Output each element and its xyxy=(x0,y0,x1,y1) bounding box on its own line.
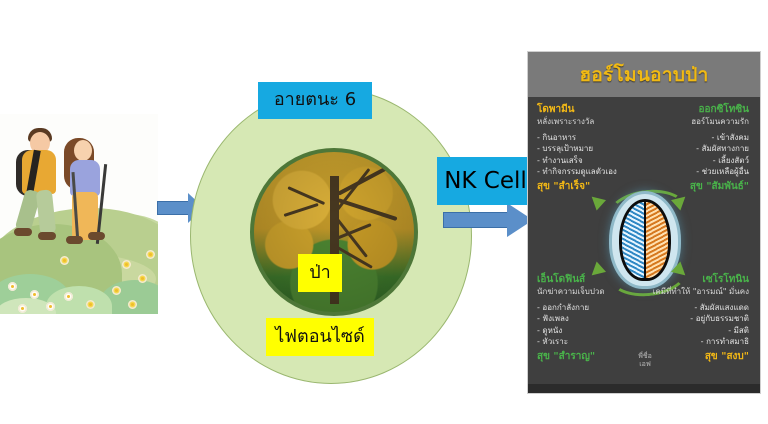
flower-icon xyxy=(122,260,131,269)
flower-icon xyxy=(112,286,121,295)
hormone-poster: ฮอร์โมนอาบป่า โดพามีน หลั่งเพราะรางวัล -… xyxy=(528,52,760,393)
flower-icon xyxy=(30,290,39,299)
label-phytoncide: ไฟตอนไซด์ xyxy=(266,318,374,356)
list-item: - การทำสมาธิ xyxy=(649,336,749,347)
quadrant-endorphin: เอ็นโดฟินส์ นักฆ่าความเจ็บปวด - ออกกำลัง… xyxy=(537,274,637,362)
slide-canvas: อายตนะ 6 ป่า ไฟตอนไซด์ NK Cell ฮอร์โมนอา… xyxy=(0,0,768,424)
list-item: - ช่วยเหลือผู้อื่น xyxy=(649,166,749,177)
flower-icon xyxy=(64,292,73,301)
list-item: - ทำงานเสร็จ xyxy=(537,155,637,166)
label-forest: ป่า xyxy=(298,254,342,292)
quadrant-serotonin: เซโรโทนิน เคมีที่ทำให้ "อารมณ์" มั่นคง -… xyxy=(649,274,749,362)
quadrant-item-list: - ออกกำลังกาย - ฟังเพลง - ดูหนัง - หัวเร… xyxy=(537,302,637,347)
brain-right-hemisphere xyxy=(645,202,668,278)
male-shoe-left xyxy=(14,228,32,236)
list-item: - ทำกิจกรรมดูแลตัวเอง xyxy=(537,166,637,177)
quadrant-dopamine: โดพามีน หลั่งเพราะรางวัล - กินอาหาร - บร… xyxy=(537,104,637,192)
poster-footer-bar xyxy=(528,384,760,393)
quadrant-subtitle: นักฆ่าความเจ็บปวด xyxy=(537,287,637,297)
watermark-line-2: เอฟ xyxy=(624,360,666,368)
list-item: - เข้าสังคม xyxy=(649,132,749,143)
list-item: - อยู่กับธรรมชาติ xyxy=(649,313,749,324)
list-item: - สัมผัสแสงแดด xyxy=(649,302,749,313)
female-shoe-right xyxy=(88,232,105,240)
quadrant-subtitle: เคมีที่ทำให้ "อารมณ์" มั่นคง xyxy=(649,287,749,297)
flower-icon xyxy=(8,282,17,291)
list-item: - มีสติ xyxy=(649,325,749,336)
poster-watermark: พี่ชื่อ เอฟ xyxy=(624,352,666,369)
male-shoe-right xyxy=(38,232,56,240)
quadrant-item-list: - สัมผัสแสงแดด - อยู่กับธรรมชาติ - มีสติ… xyxy=(649,302,749,347)
arrow-shaft xyxy=(157,201,189,215)
flower-icon xyxy=(18,304,27,313)
list-item: - บรรลุเป้าหมาย xyxy=(537,143,637,154)
brain-left-hemisphere xyxy=(622,202,645,278)
list-item: - หัวเราะ xyxy=(537,336,637,347)
quadrant-item-list: - เข้าสังคม - สัมผัสทางกาย - เลี้ยงสัตว์… xyxy=(649,132,749,177)
female-shoe-left xyxy=(66,236,83,244)
poster-title-bar: ฮอร์โมนอาบป่า xyxy=(528,52,760,97)
flower-icon xyxy=(128,300,137,309)
list-item: - ฟังเพลง xyxy=(537,313,637,324)
quadrant-subtitle: หลั่งเพราะรางวัล xyxy=(537,117,637,127)
list-item: - ออกกำลังกาย xyxy=(537,302,637,313)
flower-icon xyxy=(46,302,55,311)
quadrant-subtitle: ฮอร์โมนความรัก xyxy=(649,117,749,127)
quadrant-heading: โดพามีน xyxy=(537,104,637,116)
flower-icon xyxy=(86,300,95,309)
quadrant-happiness-label: สุข "สำราญ" xyxy=(537,351,637,362)
quadrant-happiness-label: สุข "สัมพันธ์" xyxy=(649,181,749,192)
list-item: - กินอาหาร xyxy=(537,132,637,143)
arrow-forest-to-poster xyxy=(443,203,533,237)
quadrant-heading: เซโรโทนิน xyxy=(649,274,749,286)
flower-icon xyxy=(138,274,147,283)
quadrant-item-list: - กินอาหาร - บรรลุเป้าหมาย - ทำงานเสร็จ … xyxy=(537,132,637,177)
quadrant-happiness-label: สุข "สำเร็จ" xyxy=(537,181,637,192)
poster-title: ฮอร์โมนอาบป่า xyxy=(579,60,708,90)
flower-icon xyxy=(146,250,155,259)
green-arrow-icon xyxy=(587,191,606,210)
hikers-illustration xyxy=(0,114,158,314)
list-item: - เลี้ยงสัตว์ xyxy=(649,155,749,166)
female-head xyxy=(74,140,92,161)
label-nk-cell: NK Cell xyxy=(437,157,534,205)
brain-midline xyxy=(644,202,646,278)
list-item: - สัมผัสทางกาย xyxy=(649,143,749,154)
quadrant-oxytocin: ออกซิโทซิน ฮอร์โมนความรัก - เข้าสังคม - … xyxy=(649,104,749,192)
watermark-line-1: พี่ชื่อ xyxy=(624,352,666,360)
quadrant-heading: เอ็นโดฟินส์ xyxy=(537,274,637,286)
arrow-shaft xyxy=(443,212,509,228)
list-item: - ดูหนัง xyxy=(537,325,637,336)
flower-icon xyxy=(60,256,69,265)
quadrant-heading: ออกซิโทซิน xyxy=(649,104,749,116)
label-ayatana-6: อายตนะ 6 xyxy=(258,82,372,119)
brain-illustration xyxy=(619,199,671,281)
